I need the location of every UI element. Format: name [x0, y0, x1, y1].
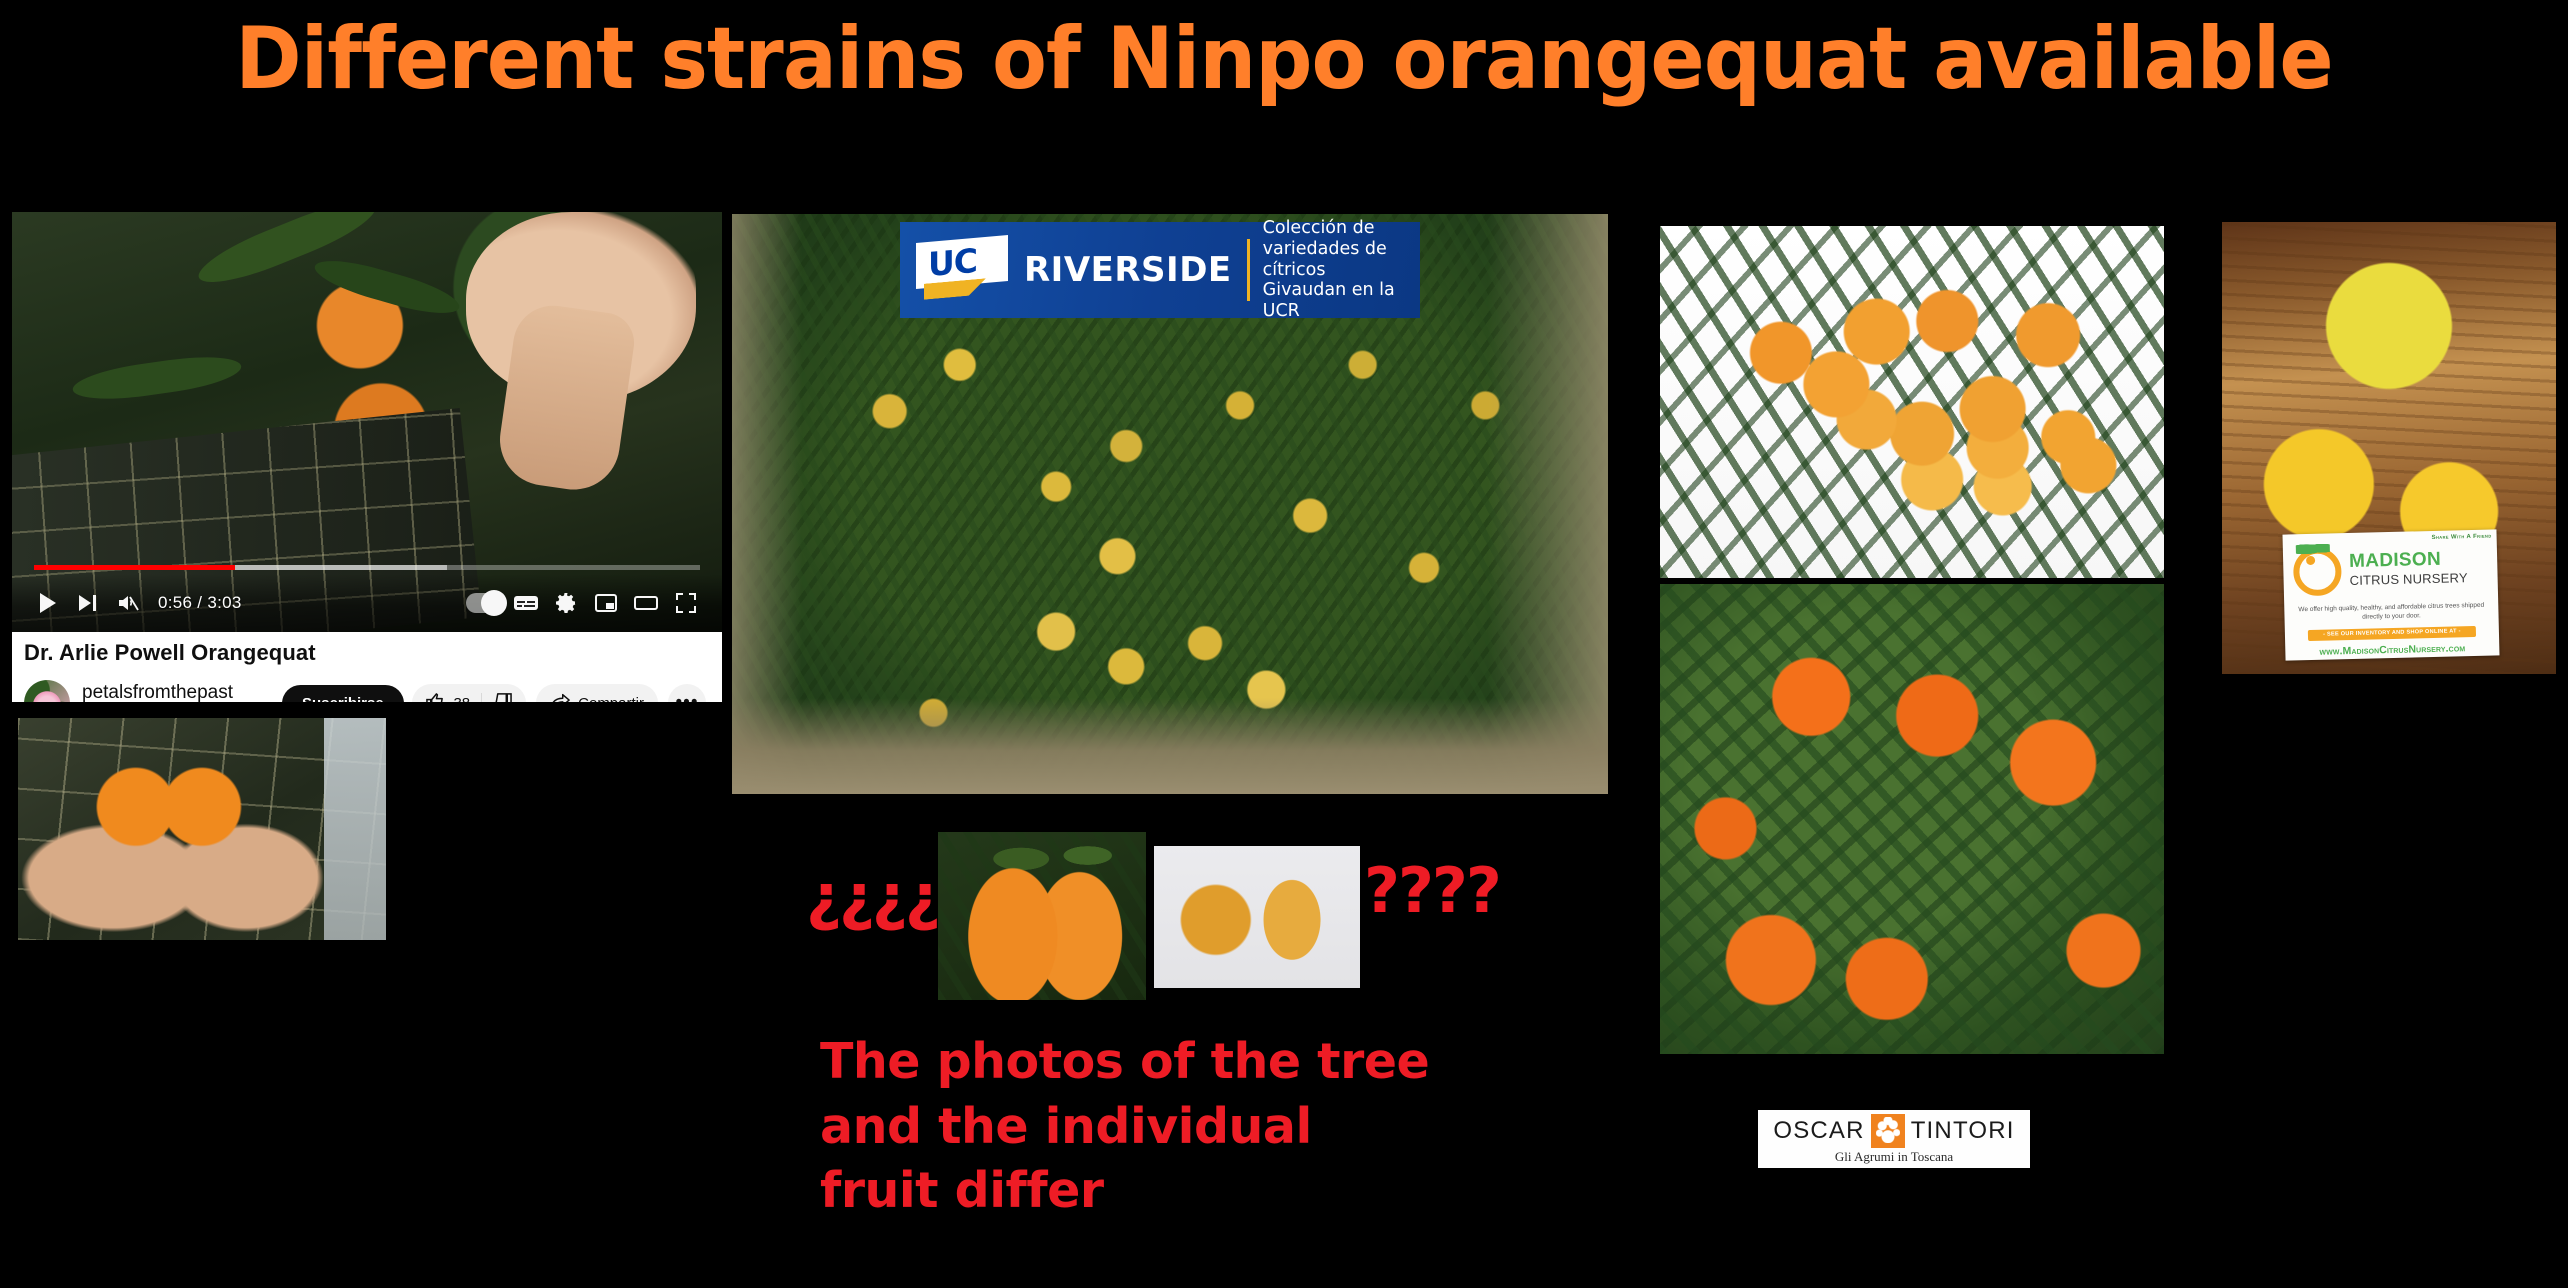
question-marks-right: ???? — [1364, 860, 1500, 922]
ucr-wordmark: RIVERSIDE — [1024, 250, 1232, 290]
video-meta-row: petalsfromthepast 9.06 K suscriptores Su… — [24, 674, 712, 702]
slide-canvas: Different strains of Ninpo orangequat av… — [0, 0, 2568, 1288]
sky-background-element — [324, 718, 386, 940]
madison-website-url: www.MadisonCitrusNursery.com — [2285, 641, 2499, 658]
ucr-subtitle-line-3: Givaudan en la UCR — [1263, 280, 1420, 321]
next-track-icon[interactable] — [68, 583, 108, 623]
more-options-button[interactable]: ••• — [668, 684, 706, 702]
video-title: Dr. Arlie Powell Orangequat — [24, 640, 316, 666]
autoplay-toggle[interactable] — [466, 583, 506, 623]
photo-cut-fruit-cross-section — [1154, 846, 1360, 988]
madison-description: We offer high quality, healthy, and affo… — [2284, 600, 2498, 624]
share-with-a-friend-note: Share With A Friend — [2431, 534, 2491, 541]
photo-hands-holding-cut-fruit — [18, 718, 386, 940]
oscar-tintori-logo: OSCAR TINTORI Gli Agrumi in Toscana — [1758, 1110, 2030, 1168]
share-label: Compartir — [578, 695, 644, 703]
video-control-bar[interactable]: 0:56 / 3:03 — [12, 574, 722, 632]
leaf-decoration — [311, 252, 463, 322]
like-count: 38 — [453, 695, 470, 703]
thumbs-up-icon[interactable] — [426, 692, 445, 703]
theater-mode-icon[interactable] — [626, 583, 666, 623]
divider — [481, 693, 482, 702]
video-action-buttons: 38 Compartir ••• — [412, 684, 712, 702]
thumbs-down-icon[interactable] — [493, 692, 512, 703]
share-arrow-icon — [550, 692, 570, 702]
madison-sub-brand: CITRUS NURSERY — [2349, 570, 2467, 588]
madison-brand-name: MADISON — [2349, 549, 2441, 572]
video-time-display: 0:56 / 3:03 — [158, 593, 242, 613]
photo-orange-fruit-on-tree — [1660, 584, 2164, 1054]
tintori-word-right: TINTORI — [1911, 1117, 2015, 1145]
red-annotation-note: The photos of the tree and the individua… — [820, 1030, 1580, 1224]
subscribe-button[interactable]: Suscribirse — [282, 685, 404, 703]
hand-photo-element — [494, 301, 638, 496]
ucr-banner: UC RIVERSIDE Colección de variedades de … — [900, 222, 1420, 318]
banner-divider — [1247, 239, 1250, 301]
gear-icon[interactable] — [546, 583, 586, 623]
madison-names: MADISON CITRUS NURSERY — [2349, 549, 2468, 590]
video-frame[interactable]: 0:56 / 3:03 — [12, 212, 722, 632]
photo-pear-shaped-fruit — [938, 832, 1146, 1000]
play-icon[interactable] — [28, 583, 68, 623]
page-title: Different strains of Ninpo orangequat av… — [90, 14, 2478, 104]
note-line-2: and the individual — [820, 1095, 1580, 1160]
note-line-1: The photos of the tree — [820, 1030, 1580, 1095]
leaf-decoration — [71, 350, 244, 405]
tintori-tagline: Gli Agrumi in Toscana — [1835, 1149, 1953, 1165]
tintori-word-left: OSCAR — [1773, 1117, 1864, 1145]
photo-studio-citrus-with-leaves — [1660, 226, 2164, 578]
ucr-subtitle-line-1: Colección de — [1263, 218, 1420, 239]
madison-brand-row: MADISON CITRUS NURSERY — [2293, 543, 2498, 596]
madison-orange-logo-icon — [2293, 547, 2342, 596]
subtitles-icon[interactable] — [506, 583, 546, 623]
fullscreen-icon[interactable] — [666, 583, 706, 623]
madison-citrus-nursery-card: Share With A Friend MADISON CITRUS NURSE… — [2282, 529, 2499, 660]
channel-name[interactable]: petalsfromthepast — [82, 683, 278, 702]
video-played-bar — [34, 565, 235, 570]
channel-block[interactable]: petalsfromthepast 9.06 K suscriptores — [82, 683, 278, 702]
question-marks-left: ¿¿¿¿ — [806, 866, 938, 928]
uc-riverside-logo-icon: UC — [916, 239, 1020, 301]
avatar[interactable] — [24, 680, 70, 702]
madison-cta-banner: - SEE OUR INVENTORY AND SHOP ONLINE AT - — [2308, 626, 2476, 641]
ucr-banner-subtitle: Colección de variedades de cítricos Giva… — [1263, 218, 1420, 321]
tintori-tree-icon — [1871, 1114, 1905, 1148]
video-progress-bar[interactable] — [34, 565, 700, 570]
uc-monogram: UC — [928, 241, 977, 284]
photo-ucr-orchard-tree: UC RIVERSIDE Colección de variedades de … — [732, 214, 1608, 794]
share-button[interactable]: Compartir — [536, 684, 658, 702]
soil-element — [732, 698, 1608, 794]
ucr-subtitle-line-2: variedades de cítricos — [1263, 239, 1420, 280]
miniplayer-icon[interactable] — [586, 583, 626, 623]
note-line-3: fruit differ — [820, 1159, 1580, 1224]
muted-volume-icon[interactable] — [108, 583, 148, 623]
like-dislike-pill[interactable]: 38 — [412, 684, 526, 702]
youtube-video-card[interactable]: 0:56 / 3:03 — [12, 212, 722, 702]
